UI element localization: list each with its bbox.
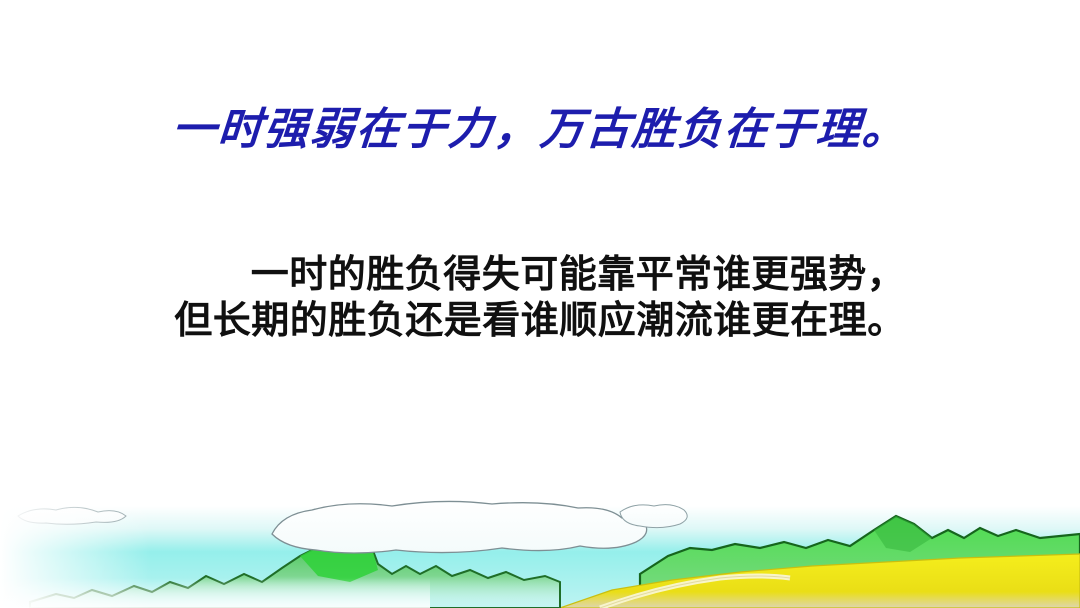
slide-title-text: 一时强弱在于力，万古胜负在于理。	[170, 108, 909, 152]
cloud-right	[620, 505, 687, 528]
hill-shade-right	[874, 516, 932, 552]
slide-canvas: 一时强弱在于力，万古胜负在于理。 一时的胜负得失可能靠平常谁更强势， 但长期的胜…	[0, 0, 1080, 608]
hill-range-right	[640, 516, 1080, 608]
field-path-edge	[600, 576, 790, 608]
landscape-illustration	[0, 478, 1080, 608]
cloud-center	[272, 501, 647, 553]
bottom-edge-fade	[0, 578, 430, 608]
slide-title: 一时强弱在于力，万古胜负在于理。	[0, 108, 1080, 152]
sky-band	[0, 506, 1080, 608]
field-path	[600, 576, 790, 608]
hill-peak-left	[300, 528, 378, 582]
body-line-1: 一时的胜负得失可能靠平常谁更强势，	[0, 252, 1080, 298]
cloud-left	[18, 507, 126, 524]
slide-body: 一时的胜负得失可能靠平常谁更强势， 但长期的胜负还是看谁顺应潮流谁更在理。	[0, 252, 1080, 345]
yellow-field	[560, 554, 1080, 608]
landscape-decoration	[0, 478, 1080, 608]
body-line-2: 但长期的胜负还是看谁顺应潮流谁更在理。	[0, 298, 1080, 344]
hill-range-left	[30, 528, 560, 608]
left-edge-fade	[0, 478, 1080, 608]
